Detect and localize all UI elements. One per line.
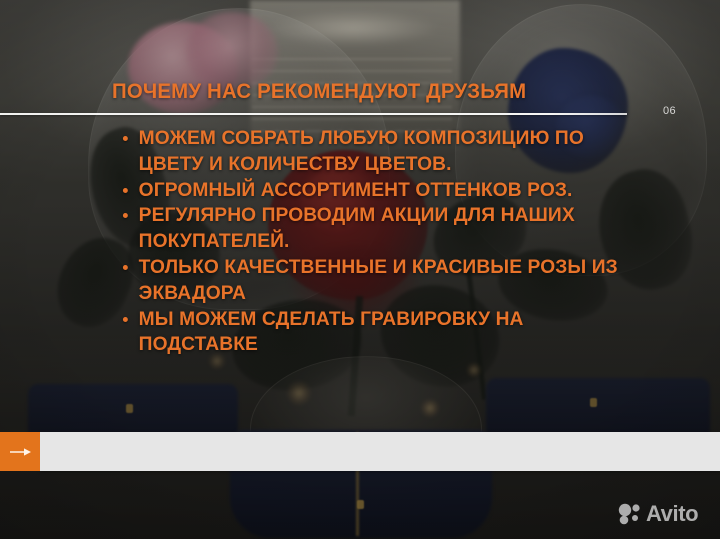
slide-container: ПОЧЕМУ НАС РЕКОМЕНДУЮТ ДРУЗЬЯМ 06 МОЖЕМ … [0, 0, 720, 539]
benefits-list: МОЖЕМ СОБРАТЬ ЛЮБУЮ КОМПОЗИЦИЮ ПО ЦВЕТУ … [118, 126, 638, 358]
avito-dots-icon [617, 503, 643, 525]
bottom-bar [40, 432, 720, 471]
list-item: МОЖЕМ СОБРАТЬ ЛЮБУЮ КОМПОЗИЦИЮ ПО ЦВЕТУ … [118, 126, 630, 178]
page-title: ПОЧЕМУ НАС РЕКОМЕНДУЮТ ДРУЗЬЯМ [112, 80, 526, 104]
next-slide-button[interactable] [0, 432, 40, 471]
list-item: ТОЛЬКО КАЧЕСТВЕННЫЕ И КРАСИВЫЕ РОЗЫ ИЗ Э… [118, 255, 630, 307]
watermark: Avito [617, 503, 698, 525]
arrow-right-icon [9, 446, 31, 458]
title-divider [0, 113, 627, 115]
list-item: МЫ МОЖЕМ СДЕЛАТЬ ГРАВИРОВКУ НА ПОДСТАВКЕ [118, 307, 630, 359]
list-item: ОГРОМНЫЙ АССОРТИМЕНТ ОТТЕНКОВ РОЗ. [118, 178, 630, 204]
list-item: РЕГУЛЯРНО ПРОВОДИМ АКЦИИ ДЛЯ НАШИХ ПОКУП… [118, 203, 630, 255]
watermark-text: Avito [646, 503, 698, 525]
page-number: 06 [663, 105, 676, 117]
